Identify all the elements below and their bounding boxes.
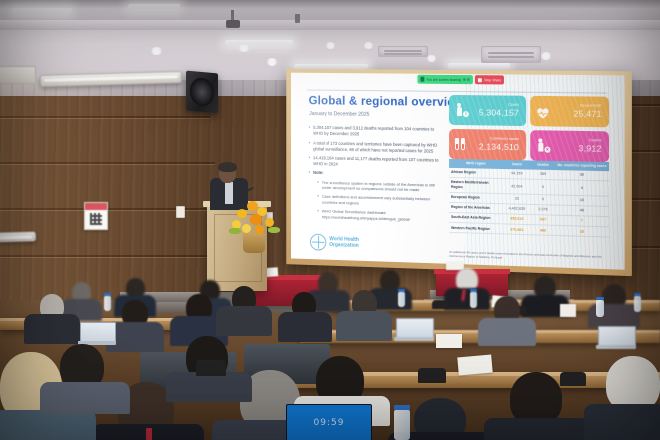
audience-torso	[166, 372, 252, 402]
flower-petal	[250, 214, 262, 225]
ceiling-sensor	[295, 14, 300, 23]
audience-torso	[336, 311, 392, 341]
wall-speaker	[186, 71, 218, 114]
water-bottle	[470, 292, 477, 308]
cell-countries: 4	[555, 180, 609, 196]
laptop-keyboard	[394, 337, 434, 341]
bullet-marker: •	[309, 155, 311, 167]
device-clock: 09:59	[314, 418, 345, 428]
audience-torso	[0, 410, 96, 440]
ceiling-ac-vent	[481, 46, 541, 63]
ceiling-panel-light	[225, 40, 294, 45]
stop-share-label: Stop Share	[484, 78, 501, 82]
ceiling-downlight	[150, 47, 163, 55]
cell-cases: 370,861	[503, 224, 531, 235]
audience-torso	[216, 306, 272, 336]
flower-petal	[255, 225, 264, 234]
projector	[226, 20, 240, 28]
tablet-device[interactable]: 09:59	[286, 404, 372, 440]
wall-fluorescent-light	[0, 231, 36, 242]
sub-bullet-item: • WHO Global Surveillance dashboard http…	[317, 208, 439, 222]
table-body: African Region94,15936930Eastern Mediter…	[449, 168, 609, 238]
heart-pulse-icon	[535, 103, 549, 119]
stat-card-deaths: ✕ Deaths 3,912	[530, 130, 609, 162]
sub-bullet-text: Case definitions and ascertainment vary …	[322, 194, 439, 208]
audience-torso	[444, 288, 490, 310]
laptop[interactable]	[596, 326, 636, 350]
cell-deaths: 480	[531, 225, 555, 236]
audience-torso	[478, 318, 536, 346]
flower-petal	[237, 209, 247, 218]
alert-badge-icon: !	[463, 111, 469, 117]
person-glyph	[538, 138, 543, 152]
bullet-item: • A total of 173 countries and territori…	[309, 140, 439, 154]
headset[interactable]	[560, 372, 586, 386]
speaker-hair	[218, 162, 237, 172]
bullet-marker: •	[317, 194, 319, 205]
water-bottle	[596, 300, 604, 317]
screenshare-controls[interactable]	[463, 78, 470, 81]
headset	[432, 300, 448, 309]
wall-ac-unit	[0, 66, 36, 84]
document-on-desk	[457, 355, 492, 376]
bullet-marker: •	[309, 170, 311, 176]
flower-petal	[265, 218, 274, 227]
who-logo-text: World Health Organization	[329, 236, 359, 249]
note-label: Note:	[313, 170, 323, 176]
slide-subtitle: January to December 2025	[309, 111, 369, 118]
bullet-marker: •	[317, 208, 319, 219]
who-logo: World Health Organization	[310, 233, 359, 251]
stat-card-grid: ! Cases 5,304,157	[449, 95, 609, 162]
sub-bullet-item: • The surveillance system in regions out…	[317, 180, 439, 194]
lecture-hall-photo: You are screen sharing Stop Share Global…	[0, 0, 660, 440]
projection-screen-frame: You are screen sharing Stop Share Global…	[286, 69, 632, 276]
ceiling-cornice	[0, 0, 660, 22]
person-glyph	[457, 103, 462, 117]
sub-bullet-text: WHO Global Surveillance dashboard https:…	[322, 208, 439, 222]
laptop-keyboard	[596, 345, 636, 349]
th-deaths: Deaths	[531, 160, 555, 170]
cell-deaths: 369	[531, 169, 555, 179]
ceiling-downlight	[540, 52, 552, 60]
screenshare-banner: You are screen sharing Stop Share	[418, 75, 505, 85]
cell-deaths: 0	[531, 179, 555, 195]
bullet-marker: •	[317, 180, 319, 191]
bullet-text: A total of 173 countries and territories…	[313, 140, 439, 154]
screenshare-status: You are screen sharing	[418, 75, 474, 84]
ceiling-cornice-lower	[0, 20, 660, 30]
cell-countries: 28	[555, 226, 609, 238]
qr-poster	[84, 202, 108, 230]
lanyard	[146, 428, 152, 440]
bullet-text: 14,419,164 cases and 11,177 deaths repor…	[313, 155, 439, 169]
laptop-screen	[80, 322, 116, 343]
cell-cases: 94,159	[503, 169, 531, 179]
person-deceased-icon: ✕	[535, 137, 549, 153]
audience-torso	[40, 382, 130, 414]
ceiling-panel-light	[128, 4, 181, 9]
water-bottle	[634, 296, 641, 312]
bullet-text: 5,304,157 cases and 3,912 deaths reporte…	[313, 125, 439, 139]
regional-data-table: WHO region Cases Deaths No. countries re…	[449, 158, 609, 238]
audience-torso	[584, 404, 660, 440]
stat-card-confirmed: Confirmed cases 2,134,510	[449, 129, 526, 160]
ceiling-ac-vent	[378, 46, 428, 57]
document-on-desk	[436, 334, 462, 348]
screenshare-icon	[420, 77, 424, 82]
cell-region: Western Pacific Region	[449, 223, 503, 235]
laptop-screen	[396, 318, 434, 339]
cell-deaths: 687	[531, 215, 555, 226]
water-bottle	[394, 410, 410, 440]
ceiling-panel-light	[12, 8, 73, 13]
presentation-slide: You are screen sharing Stop Share Global…	[291, 73, 625, 270]
cell-deaths: 2,376	[531, 204, 555, 215]
cell-region: Eastern Mediterranean Region	[449, 177, 503, 193]
sub-bullet-text: The surveillance system in regions outsi…	[322, 180, 439, 194]
bullet-item: • 5,304,157 cases and 3,912 deaths repor…	[309, 125, 439, 139]
slide-title: Global & regional overview	[309, 93, 464, 109]
laptop[interactable]	[78, 322, 116, 346]
audience-torso	[24, 314, 80, 344]
ceiling-downlight	[266, 58, 278, 66]
projection-screen[interactable]: You are screen sharing Stop Share Global…	[291, 73, 625, 270]
stat-card-cases: ! Cases 5,304,157	[449, 95, 526, 126]
bullet-marker: •	[309, 125, 311, 137]
stop-share-button[interactable]: Stop Share	[475, 75, 504, 84]
cross-badge-icon: ✕	[544, 146, 550, 152]
cell-cases: 42,004	[503, 178, 531, 194]
cell-cases: 33	[503, 193, 531, 204]
person-alert-icon: !	[454, 102, 468, 118]
who-logo-line2: Organization	[329, 242, 359, 249]
cell-deaths: 0	[531, 194, 555, 205]
bullet-item: • 14,419,164 cases and 11,177 deaths rep…	[309, 155, 439, 170]
qr-code	[90, 213, 102, 225]
flower-leaf	[268, 227, 280, 233]
poster-header-band	[85, 203, 107, 210]
stat-card-severe: Severe/SAD 25,471	[530, 96, 609, 127]
stop-icon	[478, 78, 482, 82]
flower-leaf	[229, 228, 241, 234]
bullet-marker: •	[309, 140, 311, 152]
ceiling-downlight	[325, 42, 336, 49]
test-tubes-icon	[454, 136, 468, 152]
flower-vase	[243, 233, 265, 253]
laptop-screen	[598, 326, 636, 347]
note-sub-list: • The surveillance system in regions out…	[317, 180, 439, 223]
water-bottle	[104, 296, 111, 311]
who-emblem-icon	[310, 233, 326, 250]
water-bottle	[398, 292, 405, 307]
note-heading: • Note:	[309, 170, 439, 179]
ceiling-downlight	[363, 42, 374, 49]
wall-outlet	[176, 206, 185, 218]
ceiling-panel-light	[448, 63, 511, 68]
flower-petal	[242, 224, 251, 233]
document-on-desk	[560, 304, 576, 317]
flower-arrangement	[229, 197, 281, 253]
headset[interactable]	[196, 360, 226, 376]
screenshare-status-label: You are screen sharing	[426, 77, 461, 81]
headset[interactable]	[418, 368, 446, 383]
ceiling-downlight	[238, 44, 250, 52]
cell-cases: 4,402,639	[503, 204, 531, 215]
audience-torso	[484, 418, 590, 440]
audience-torso	[278, 312, 332, 342]
sub-bullet-item: • Case definitions and ascertainment var…	[317, 194, 439, 208]
slide-bullet-list: • 5,304,157 cases and 3,912 deaths repor…	[309, 125, 439, 226]
laptop[interactable]	[394, 318, 434, 342]
